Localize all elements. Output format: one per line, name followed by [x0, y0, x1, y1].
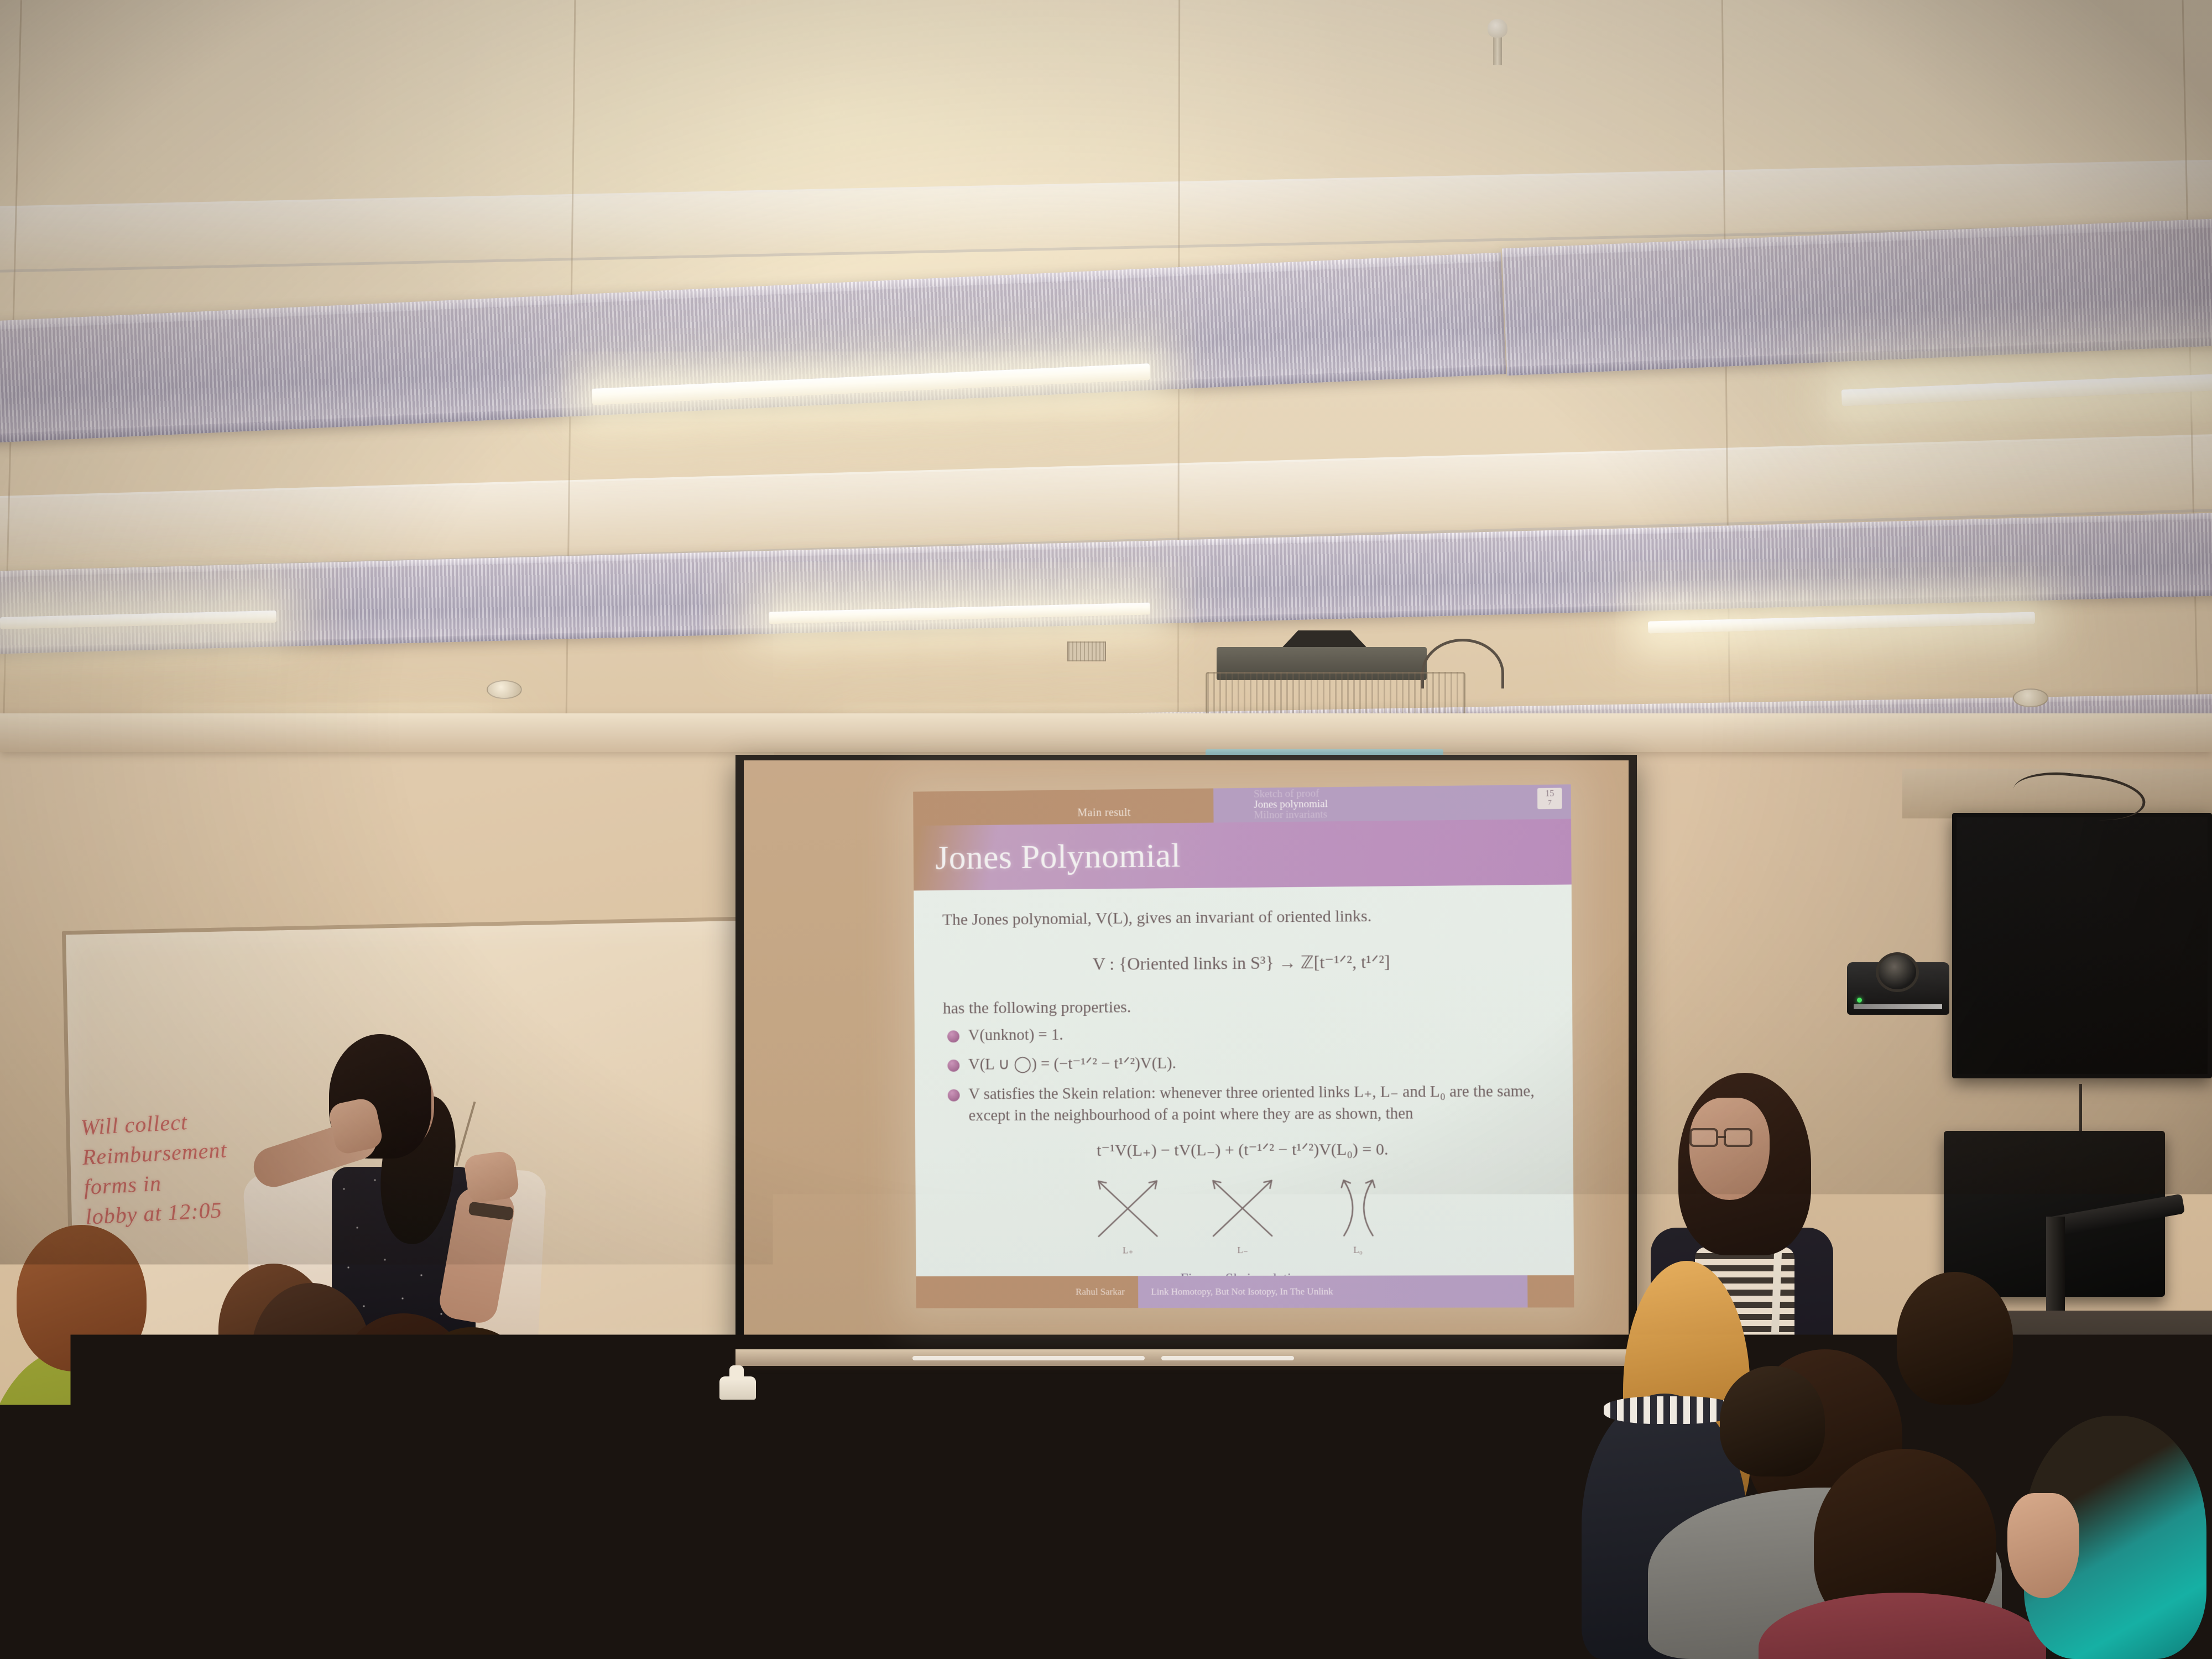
- camera-strip: [1854, 1004, 1942, 1009]
- ceiling-light-baffle: [1502, 216, 2212, 375]
- skein-diagram-l-zero: L₀: [1322, 1175, 1394, 1241]
- ceiling-speaker: [487, 680, 522, 699]
- fluorescent-tube: [1841, 373, 2212, 406]
- attendee-glasses: [1689, 1128, 1759, 1147]
- camcorder-body: [1247, 1396, 1297, 1460]
- skein-diagram-l-plus: L₊: [1092, 1175, 1164, 1241]
- slide-title: Jones Polynomial: [935, 836, 1181, 878]
- bullet-2-text: V(L ∪ ◯) = (−t⁻¹ᐟ² − t¹ᐟ²)V(L).: [968, 1055, 1176, 1073]
- slide-bullet-3: V satisfies the Skein relation: whenever…: [943, 1081, 1544, 1127]
- bullet-marker-icon: [947, 1030, 959, 1042]
- ceiling: [0, 0, 2212, 763]
- monitor-cable: [2079, 1084, 2082, 1136]
- bottle-cap: [719, 1376, 756, 1400]
- footer-author: Rahul Sarkar: [1076, 1286, 1138, 1297]
- monitor-post: [2046, 1217, 2065, 1311]
- water-bottle-small: [1529, 1446, 1563, 1529]
- whiteboard-marker: [1040, 1366, 1073, 1374]
- camcorder-lens-hood: [1241, 1385, 1302, 1405]
- slide-navbar: Main result Sketch of proof Jones polyno…: [913, 784, 1571, 826]
- bullet-1-text: V(unknot) = 1.: [968, 1026, 1063, 1044]
- screen-ledge-stripe: [1161, 1356, 1294, 1360]
- footer-talk-title: Link Homotopy, But Not Isotopy, In The U…: [1151, 1286, 1333, 1297]
- audience-member-head: [17, 1225, 147, 1371]
- projected-slide: Main result Sketch of proof Jones polyno…: [913, 784, 1574, 1308]
- nav-item-milnor-invariants: Milnor invariants: [1254, 808, 1448, 821]
- nav-section-main-result: Main result: [1077, 806, 1131, 820]
- ceiling-speaker: [2013, 688, 2048, 707]
- bullet-marker-icon: [947, 1060, 959, 1072]
- bottle-spout: [729, 1365, 744, 1380]
- slide-intro-line: The Jones polynomial, V(L), gives an inv…: [942, 904, 1543, 931]
- water-bottle-teal: [716, 1396, 759, 1493]
- slide-bullet-2: V(L ∪ ◯) = (−t⁻¹ᐟ² − t¹ᐟ²)V(L).: [943, 1051, 1543, 1076]
- slide-body: The Jones polynomial, V(L), gives an inv…: [914, 884, 1574, 1276]
- slide-footer: Rahul Sarkar Link Homotopy, But Not Isot…: [916, 1275, 1574, 1308]
- camera-lens-icon: [1876, 952, 1919, 992]
- tripod-brand-label: SONY: [1257, 1565, 1266, 1593]
- bottle-cap: [1537, 1432, 1556, 1448]
- glasses-lens-left: [1689, 1128, 1718, 1147]
- screen-ledge-stripe: [912, 1356, 1145, 1360]
- ceiling-light-baffle: [0, 253, 1506, 445]
- audience-member-head: [1897, 1272, 2013, 1405]
- camera-status-led: [1857, 998, 1862, 1003]
- desk-leg: [719, 1501, 735, 1629]
- skein-label-l-plus: L₊: [1123, 1245, 1133, 1256]
- skein-label-l-minus: L₋: [1237, 1245, 1248, 1256]
- videoconference-camera: [1847, 962, 1949, 1015]
- positive-crossing-icon: [1092, 1175, 1164, 1241]
- ceiling-vent: [1067, 641, 1106, 661]
- wall-power-outlet: [802, 1493, 830, 1537]
- bullet-marker-icon: [948, 1089, 960, 1102]
- audience-member-collar: [1604, 1396, 1736, 1424]
- page-number: 15: [1545, 789, 1554, 799]
- skein-figure: L₊ L₋: [944, 1174, 1545, 1242]
- audience-member-face: [2007, 1493, 2079, 1598]
- desk-leg: [1438, 1484, 1452, 1583]
- audience-member-head: [1720, 1366, 1825, 1477]
- slide-map-equation: V : {Oriented links in S³} → ℤ[t⁻¹ᐟ², t¹…: [942, 950, 1543, 975]
- slide-skein-equation: t⁻¹V(L₊) − tV(L₋) + (t⁻¹ᐟ² − t¹ᐟ²)V(L₀) …: [943, 1139, 1544, 1160]
- smoothing-icon: [1322, 1175, 1394, 1241]
- skein-label-l-zero: L₀: [1353, 1244, 1363, 1255]
- wall-flat-panel-display: [1952, 813, 2212, 1078]
- slide-properties-lead: has the following properties.: [943, 993, 1543, 1020]
- audience-member-head: [406, 1327, 536, 1477]
- bullet-3-text: V satisfies the Skein relation: whenever…: [968, 1082, 1535, 1125]
- page-total: 7: [1545, 798, 1554, 806]
- av-control-desk: [1985, 1311, 2212, 1416]
- negative-crossing-icon: [1206, 1175, 1279, 1241]
- slide-bullet-list: V(unknot) = 1. V(L ∪ ◯) = (−t⁻¹ᐟ² − t¹ᐟ²…: [943, 1021, 1544, 1127]
- nav-subsections: Sketch of proof Jones polynomial Milnor …: [1254, 787, 1448, 821]
- student-desk: [1421, 1543, 1576, 1561]
- attendee-face: [1689, 1098, 1770, 1200]
- wall-soffit: [0, 713, 2212, 752]
- slide-page-indicator: 15 7: [1537, 788, 1562, 810]
- camcorder-indicator-icon: [1287, 1412, 1294, 1419]
- presenter-hand-right: [463, 1150, 520, 1204]
- glasses-bridge: [1718, 1136, 1726, 1138]
- sprinkler-head: [1493, 33, 1502, 65]
- glasses-lens-right: [1724, 1128, 1752, 1147]
- fluorescent-tube: [1648, 612, 2035, 633]
- lecture-hall-photo: Will collect Reimbursement forms in lobb…: [0, 0, 2212, 1659]
- skein-diagram-l-minus: L₋: [1206, 1175, 1279, 1241]
- slide-title-bar: Jones Polynomial: [914, 819, 1572, 891]
- slide-bullet-1: V(unknot) = 1.: [943, 1021, 1543, 1046]
